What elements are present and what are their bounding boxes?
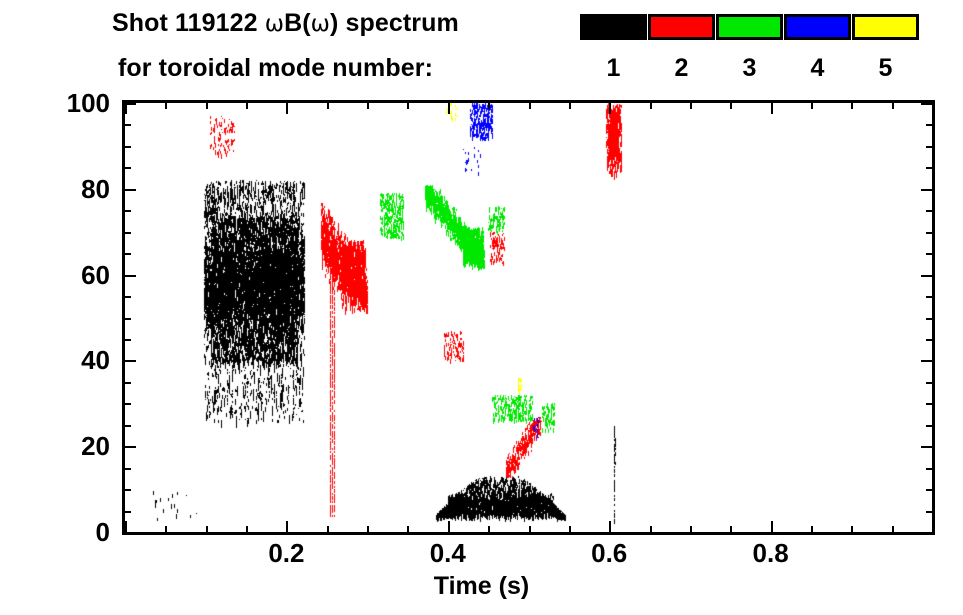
x-tick: [448, 103, 450, 114]
x-tick: [529, 526, 531, 532]
y-tick: [125, 403, 131, 405]
y-tick: [926, 318, 932, 320]
title-subtitle: for toroidal mode number:: [118, 54, 433, 83]
x-tick: [206, 526, 208, 532]
spectrogram-canvas: [125, 103, 932, 532]
y-tick: [921, 446, 932, 448]
y-tick: [926, 210, 932, 212]
y-tick-label: 80: [81, 176, 110, 202]
x-tick: [569, 526, 571, 532]
y-tick: [926, 489, 932, 491]
x-tick: [811, 103, 813, 109]
y-tick: [921, 189, 932, 191]
x-tick: [407, 526, 409, 532]
y-tick: [125, 339, 131, 341]
legend-label-3: 3: [716, 54, 783, 83]
y-tick: [125, 275, 136, 277]
x-tick: [448, 521, 450, 532]
y-tick: [125, 360, 136, 362]
y-tick: [125, 253, 131, 255]
x-tick: [811, 526, 813, 532]
plot-area: [122, 100, 935, 535]
x-tick: [569, 103, 571, 109]
y-tick: [926, 425, 932, 427]
legend-swatch-2: [648, 14, 715, 40]
x-tick-label: 0.8: [731, 540, 811, 566]
x-tick: [367, 103, 369, 109]
y-tick: [125, 318, 131, 320]
y-tick: [125, 382, 131, 384]
legend-swatch-3: [716, 14, 783, 40]
y-tick: [125, 468, 131, 470]
legend-swatch-5: [852, 14, 919, 40]
x-tick: [690, 103, 692, 109]
x-tick: [206, 103, 208, 109]
title-shot-text: Shot 119122: [112, 9, 265, 37]
x-tick: [609, 521, 611, 532]
legend-label-1: 1: [580, 54, 647, 83]
y-tick: [125, 210, 131, 212]
x-tick: [246, 103, 248, 109]
x-tick-label: 0.6: [569, 540, 649, 566]
y-tick: [125, 189, 136, 191]
y-tick: [926, 146, 932, 148]
x-tick: [690, 526, 692, 532]
x-tick: [892, 526, 894, 532]
y-tick: [125, 511, 131, 513]
y-tick: [926, 339, 932, 341]
y-tick: [125, 232, 131, 234]
title-b-text: B(: [284, 9, 311, 37]
legend-label-5: 5: [852, 54, 919, 83]
y-tick: [926, 253, 932, 255]
y-tick: [926, 167, 932, 169]
x-tick: [488, 526, 490, 532]
y-tick: [926, 403, 932, 405]
x-tick: [246, 526, 248, 532]
y-tick: [926, 511, 932, 513]
y-tick-label: 100: [67, 90, 110, 116]
x-tick: [851, 526, 853, 532]
x-tick-label: 0.4: [408, 540, 488, 566]
x-tick: [650, 526, 652, 532]
y-tick: [926, 468, 932, 470]
legend-label-4: 4: [784, 54, 851, 83]
title-spectrum-text: ) spectrum: [330, 9, 459, 37]
x-tick: [488, 103, 490, 109]
page-title: Shot 119122 ωB(ω) spectrum: [112, 9, 459, 38]
y-tick: [125, 296, 131, 298]
legend-swatch-1: [580, 14, 647, 40]
y-tick: [125, 532, 136, 534]
spectrogram-figure: Shot 119122 ωB(ω) spectrum for toroidal …: [0, 0, 963, 615]
y-tick-label: 20: [81, 433, 110, 459]
x-tick: [851, 103, 853, 109]
x-tick: [529, 103, 531, 109]
x-tick: [932, 103, 934, 114]
y-tick: [125, 446, 136, 448]
x-tick: [892, 103, 894, 109]
y-tick-label: 40: [81, 347, 110, 373]
x-tick: [165, 526, 167, 532]
legend-label-2: 2: [648, 54, 715, 83]
x-tick: [286, 103, 288, 114]
y-tick-label: 0: [96, 519, 110, 545]
y-tick: [926, 382, 932, 384]
y-tick: [125, 489, 131, 491]
x-tick: [932, 521, 934, 532]
x-tick: [609, 103, 611, 114]
x-tick: [367, 526, 369, 532]
x-tick: [125, 521, 127, 532]
y-tick: [125, 124, 131, 126]
x-tick: [407, 103, 409, 109]
x-tick: [165, 103, 167, 109]
y-tick: [926, 232, 932, 234]
y-tick: [926, 296, 932, 298]
x-tick: [286, 521, 288, 532]
y-tick-labels: 020406080100: [0, 100, 122, 535]
legend-swatch-4: [784, 14, 851, 40]
x-tick: [327, 103, 329, 109]
y-tick: [125, 425, 131, 427]
y-tick: [921, 103, 932, 105]
x-tick: [730, 103, 732, 109]
x-tick: [730, 526, 732, 532]
y-tick: [921, 275, 932, 277]
y-tick: [921, 532, 932, 534]
y-tick: [125, 167, 131, 169]
y-tick: [921, 360, 932, 362]
omega-symbol-1: ω: [265, 11, 284, 37]
x-tick-label: 0.2: [246, 540, 326, 566]
x-tick: [327, 526, 329, 532]
y-tick: [926, 124, 932, 126]
x-tick: [771, 521, 773, 532]
y-tick-label: 60: [81, 262, 110, 288]
omega-symbol-2: ω: [311, 11, 330, 37]
x-tick-labels: 0.20.40.60.8: [122, 540, 935, 580]
y-tick: [125, 146, 131, 148]
y-tick: [125, 103, 136, 105]
x-tick: [771, 103, 773, 114]
x-tick: [650, 103, 652, 109]
